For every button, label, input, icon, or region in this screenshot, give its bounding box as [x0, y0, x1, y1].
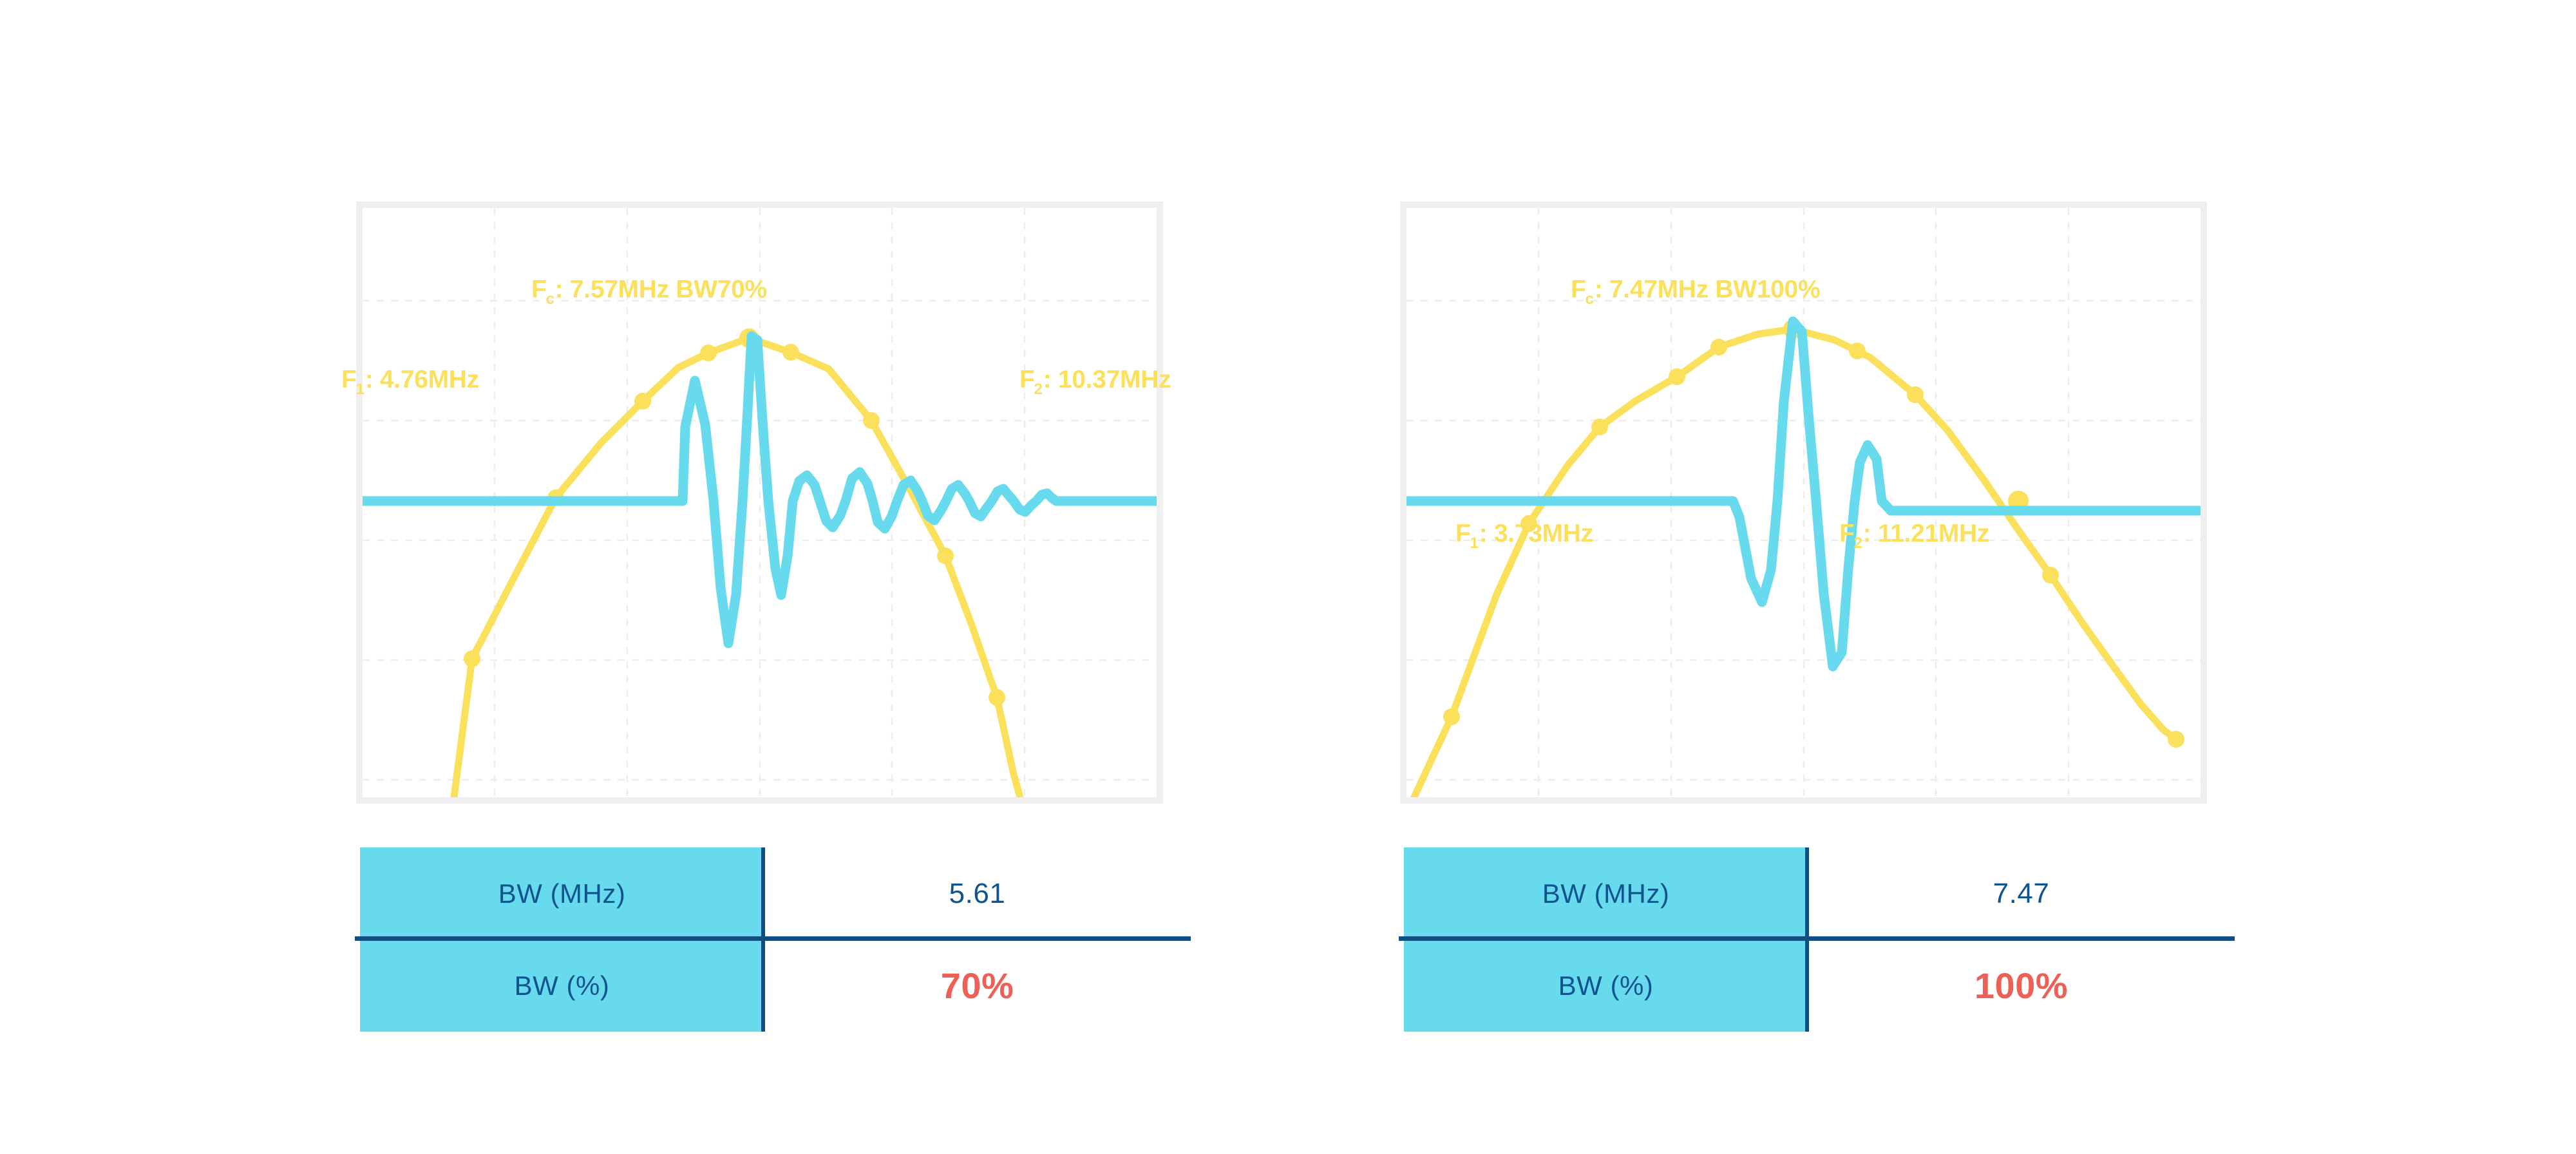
table-value-text: 100%: [1975, 965, 2068, 1007]
label-f1-text: : 4.76MHz: [365, 366, 479, 393]
table-cell-value-bw-mhz-right: 7.47: [1808, 847, 2235, 940]
table-value-text: 7.47: [1993, 878, 2050, 910]
table-cell-value-bw-mhz-left: 5.61: [764, 847, 1191, 940]
label-center-subscript: c: [546, 290, 554, 308]
label-f2-text: : 10.37MHz: [1043, 366, 1171, 393]
label-f1-subscript: 1: [1470, 534, 1479, 552]
table-cell-label-bw-mhz-left: BW (MHz): [360, 847, 764, 940]
label-center-frequency-right: Fc: 7.47MHz BW100%: [1571, 276, 1820, 304]
label-lower-cutoff-left: F1: 4.76MHz: [341, 366, 479, 394]
label-f1-text: : 3.73MHz: [1479, 520, 1593, 547]
label-lower-cutoff-right: F1: 3.73MHz: [1455, 520, 1593, 548]
table-cell-label-bw-pct-right: BW (%): [1404, 940, 1808, 1032]
label-f1-prefix: F: [1455, 520, 1471, 547]
label-upper-cutoff-right: F2: 11.21MHz: [1839, 520, 1989, 548]
table-column-divider-left: [761, 847, 765, 1032]
label-f2-prefix: F: [1839, 520, 1855, 547]
table-value-text: 5.61: [949, 878, 1006, 910]
label-center-prefix: F: [531, 276, 547, 303]
label-center-prefix: F: [1571, 276, 1586, 303]
table-label-text: BW (MHz): [1542, 878, 1670, 909]
label-center-text: : 7.57MHz BW70%: [555, 276, 767, 303]
label-f2-subscript: 2: [1854, 534, 1862, 552]
bandwidth-table-left: BW (MHz) 5.61 BW (%) 70%: [360, 847, 1197, 1034]
label-center-text: : 7.47MHz BW100%: [1595, 276, 1821, 303]
label-center-frequency-left: Fc: 7.57MHz BW70%: [531, 276, 767, 304]
table-row-divider-left: [355, 936, 1191, 941]
table-column-divider-right: [1805, 847, 1809, 1032]
table-cell-label-bw-pct-left: BW (%): [360, 940, 764, 1032]
table-row-divider-right: [1399, 936, 2235, 941]
table-cell-label-bw-mhz-right: BW (MHz): [1404, 847, 1808, 940]
bandwidth-table-right: BW (MHz) 7.47 BW (%) 100%: [1404, 847, 2241, 1034]
label-f2-prefix: F: [1019, 366, 1035, 393]
table-cell-value-bw-pct-right: 100%: [1808, 940, 2235, 1032]
label-f1-subscript: 1: [356, 381, 365, 398]
label-upper-cutoff-left: F2: 10.37MHz: [1019, 366, 1171, 394]
panel-group-left: Fc: 7.57MHz BW70% F1: 4.76MHz F2: 10.37M…: [356, 202, 1193, 1039]
panel-group-right: Fc: 7.47MHz BW100% F1: 3.73MHz F2: 11.21…: [1400, 202, 2237, 1039]
label-f1-prefix: F: [341, 366, 357, 393]
label-center-subscript: c: [1586, 290, 1594, 308]
table-label-text: BW (MHz): [498, 878, 626, 909]
spectrum-curve-right: [1410, 329, 2176, 797]
table-cell-value-bw-pct-left: 70%: [764, 940, 1191, 1032]
table-label-text: BW (%): [1558, 970, 1654, 1001]
label-f2-subscript: 2: [1034, 381, 1043, 398]
table-label-text: BW (%): [515, 970, 610, 1001]
table-value-text: 70%: [941, 965, 1014, 1007]
label-f2-text: : 11.21MHz: [1863, 520, 1989, 547]
